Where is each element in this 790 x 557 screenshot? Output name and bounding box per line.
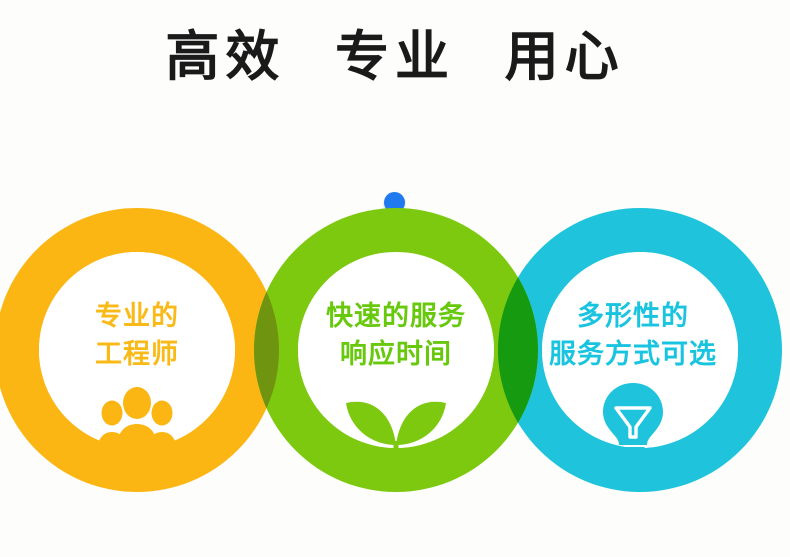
venn-rings-group	[0, 0, 790, 557]
infographic-poster: 高效 专业 用心	[0, 0, 790, 557]
ring-2-inner-disc	[298, 252, 494, 448]
ring-1-inner-disc	[39, 252, 235, 448]
ring-3-inner-disc	[542, 252, 738, 448]
